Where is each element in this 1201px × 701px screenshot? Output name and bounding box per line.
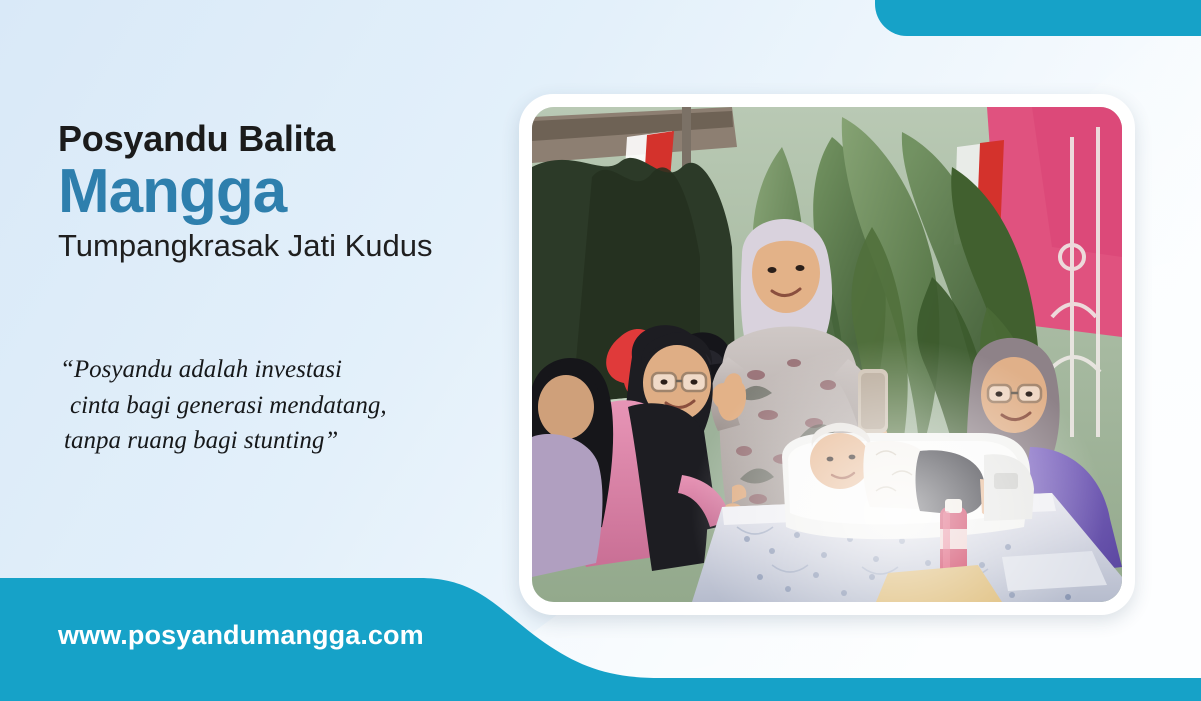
website-url[interactable]: www.posyandumangga.com: [58, 620, 424, 651]
quote-line-2: cinta bagi generasi mendatang,: [60, 388, 510, 424]
photo-frame: [519, 94, 1135, 615]
photo-image: [532, 107, 1122, 602]
tagline-quote: “Posyandu adalah investasi cinta bagi ge…: [60, 352, 510, 459]
top-right-teal-bar: [875, 0, 1201, 36]
page-kicker: Posyandu Balita: [58, 120, 518, 159]
page-subtitle: Tumpangkrasak Jati Kudus: [58, 229, 518, 264]
heading-block: Posyandu Balita Mangga Tumpangkrasak Jat…: [58, 120, 518, 264]
page-title: Mangga: [58, 161, 518, 223]
quote-line-1: “Posyandu adalah investasi: [60, 352, 510, 388]
quote-line-3: tanpa ruang bagi stunting”: [60, 423, 510, 459]
poster-canvas: Posyandu Balita Mangga Tumpangkrasak Jat…: [0, 0, 1201, 701]
